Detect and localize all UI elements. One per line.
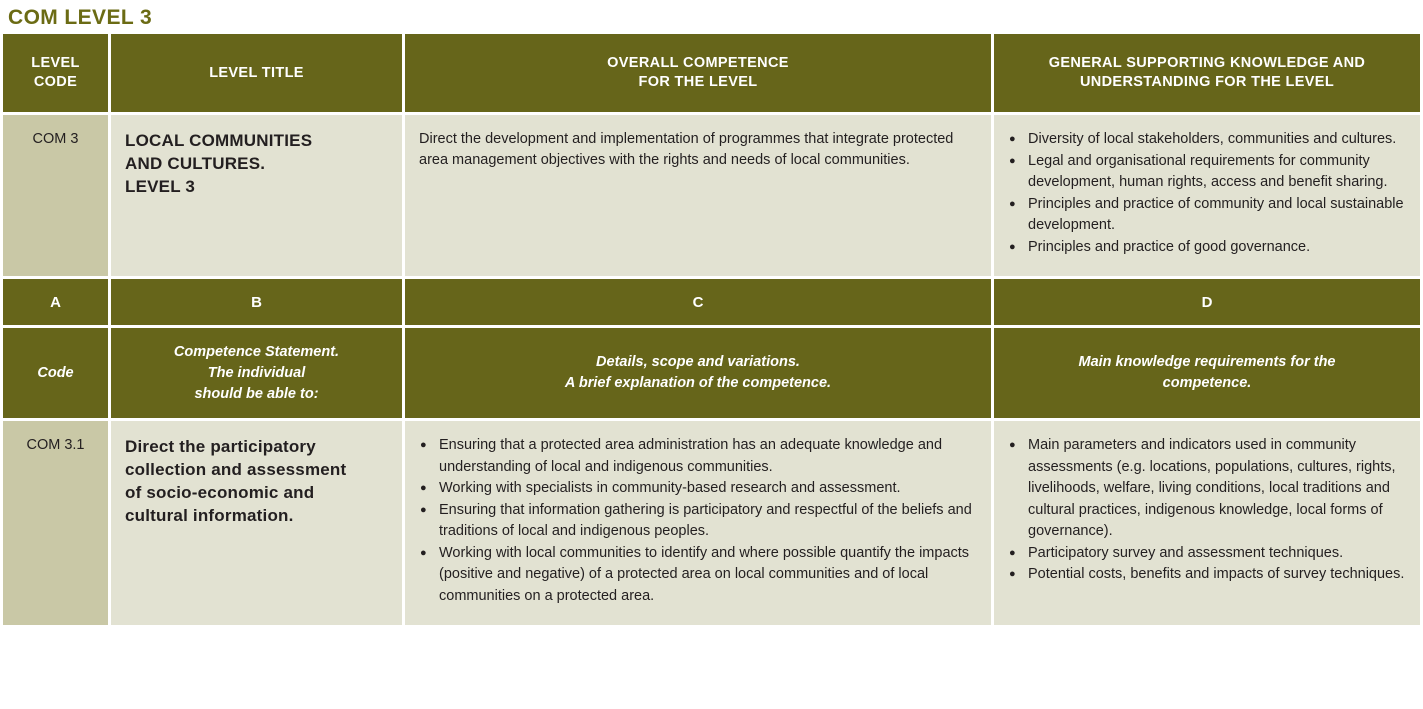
subheader-b-line1: Competence Statement. — [174, 344, 339, 360]
header-overall-line2: FOR THE LEVEL — [639, 74, 758, 90]
column-letter-row: A B C D — [3, 276, 1420, 328]
column-letter-b: B — [111, 276, 405, 328]
competence-framework-page: COM LEVEL 3 LEVEL CODE LEVEL TITLE OVERA… — [0, 0, 1423, 709]
competence-details-value: Ensuring that a protected area administr… — [405, 421, 994, 625]
knowledge-list: Main parameters and indicators used in c… — [1008, 435, 1406, 586]
column-letter-c: C — [405, 276, 994, 328]
list-item: Ensuring that information gathering is p… — [419, 500, 977, 543]
statement-line3: of socio-economic and — [125, 483, 314, 502]
level-summary-row: COM 3 LOCAL COMMUNITIES AND CULTURES. LE… — [3, 115, 1420, 276]
header-general-line2: UNDERSTANDING FOR THE LEVEL — [1080, 74, 1334, 90]
list-item: Working with specialists in community-ba… — [419, 478, 977, 500]
sub-header-row: Code Competence Statement. The individua… — [3, 328, 1420, 421]
header-level-title: LEVEL TITLE — [111, 34, 405, 115]
overall-competence-text: Direct the development and implementatio… — [419, 129, 977, 171]
level-title-line1: LOCAL COMMUNITIES — [125, 131, 312, 150]
column-letter-d: D — [994, 276, 1420, 328]
subheader-c-line2: A brief explanation of the competence. — [565, 375, 831, 391]
list-item: Principles and practice of good governan… — [1008, 237, 1406, 259]
competence-statement-value: Direct the participatory collection and … — [111, 421, 405, 625]
level-overall-competence-value: Direct the development and implementatio… — [405, 115, 994, 276]
competence-code-value: COM 3.1 — [3, 421, 111, 625]
competence-table: LEVEL CODE LEVEL TITLE OVERALL COMPETENC… — [3, 34, 1420, 625]
level-title-line2: AND CULTURES. — [125, 154, 265, 173]
table-header-row: LEVEL CODE LEVEL TITLE OVERALL COMPETENC… — [3, 34, 1420, 115]
list-item: Diversity of local stakeholders, communi… — [1008, 129, 1406, 151]
statement-line2: collection and assessment — [125, 460, 346, 479]
list-item: Main parameters and indicators used in c… — [1008, 435, 1406, 543]
subheader-knowledge: Main knowledge requirements for the comp… — [994, 328, 1420, 421]
subheader-d-line2: competence. — [1163, 375, 1252, 391]
header-general-line1: GENERAL SUPPORTING KNOWLEDGE AND — [1049, 55, 1366, 71]
list-item: Legal and organisational requirements fo… — [1008, 151, 1406, 194]
column-letter-a: A — [3, 276, 111, 328]
level-code-value: COM 3 — [3, 115, 111, 276]
header-general-knowledge: GENERAL SUPPORTING KNOWLEDGE AND UNDERST… — [994, 34, 1420, 115]
subheader-competence-statement: Competence Statement. The individual sho… — [111, 328, 405, 421]
list-item: Working with local communities to identi… — [419, 543, 977, 608]
details-list: Ensuring that a protected area administr… — [419, 435, 977, 607]
header-overall-line1: OVERALL COMPETENCE — [607, 55, 789, 71]
subheader-c-line1: Details, scope and variations. — [596, 354, 800, 370]
subheader-details: Details, scope and variations. A brief e… — [405, 328, 994, 421]
subheader-d-line1: Main knowledge requirements for the — [1078, 354, 1335, 370]
list-item: Ensuring that a protected area administr… — [419, 435, 977, 478]
list-item: Participatory survey and assessment tech… — [1008, 543, 1406, 565]
header-level-code-line1: LEVEL — [31, 55, 79, 71]
competence-row: COM 3.1 Direct the participatory collect… — [3, 421, 1420, 625]
header-overall-competence: OVERALL COMPETENCE FOR THE LEVEL — [405, 34, 994, 115]
list-item: Principles and practice of community and… — [1008, 194, 1406, 237]
competence-knowledge-value: Main parameters and indicators used in c… — [994, 421, 1420, 625]
general-knowledge-list: Diversity of local stakeholders, communi… — [1008, 129, 1406, 258]
level-title-line3: LEVEL 3 — [125, 177, 195, 196]
subheader-b-line2: The individual — [208, 365, 305, 381]
level-general-knowledge-value: Diversity of local stakeholders, communi… — [994, 115, 1420, 276]
page-title: COM LEVEL 3 — [0, 0, 1423, 34]
subheader-code: Code — [3, 328, 111, 421]
statement-line4: cultural information. — [125, 506, 294, 525]
header-level-code: LEVEL CODE — [3, 34, 111, 115]
list-item: Potential costs, benefits and impacts of… — [1008, 564, 1406, 586]
subheader-b-line3: should be able to: — [194, 386, 318, 402]
statement-line1: Direct the participatory — [125, 437, 316, 456]
level-title-value: LOCAL COMMUNITIES AND CULTURES. LEVEL 3 — [111, 115, 405, 276]
header-level-code-line2: CODE — [34, 74, 77, 90]
